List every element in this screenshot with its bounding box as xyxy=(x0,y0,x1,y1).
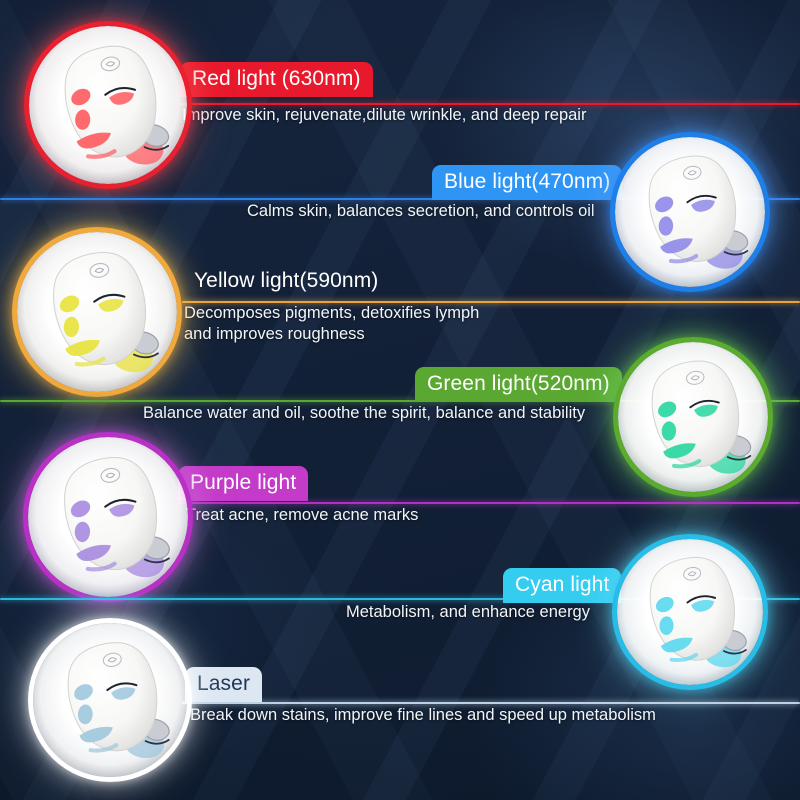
mask-ring-laser xyxy=(28,618,192,782)
mask-glow-red xyxy=(29,26,187,184)
description-blue: Calms skin, balances secretion, and cont… xyxy=(247,201,595,222)
led-mask-illustration xyxy=(610,132,770,292)
mode-row-cyan: Cyan lightMetabolism, and enhance energy xyxy=(0,0,800,800)
mode-row-purple: Purple lightTreat acne, remove acne mark… xyxy=(0,0,800,800)
badge-red[interactable]: Red light (630nm) xyxy=(180,62,373,97)
mode-row-green: Green light(520nm)Balance water and oil,… xyxy=(0,0,800,800)
background-streaks xyxy=(0,0,800,800)
background-vignette xyxy=(0,0,800,800)
mask-ring-red xyxy=(24,21,192,189)
mask-glow-green xyxy=(618,342,768,492)
background-streaks-secondary xyxy=(0,0,800,800)
divider-blue xyxy=(0,198,800,200)
mask-circle-red xyxy=(24,21,192,189)
divider-red xyxy=(180,103,800,105)
led-mask-illustration xyxy=(24,21,192,189)
badge-laser[interactable]: Laser xyxy=(185,667,262,702)
divider-cyan xyxy=(0,598,800,600)
mask-glow-laser xyxy=(33,623,187,777)
mode-row-red: Red light (630nm)Improve skin, rejuvenat… xyxy=(0,0,800,800)
description-cyan: Metabolism, and enhance energy xyxy=(346,602,590,623)
mask-ring-blue xyxy=(610,132,770,292)
led-mask-illustration xyxy=(612,534,768,690)
badge-blue[interactable]: Blue light(470nm) xyxy=(432,165,622,200)
badge-cyan[interactable]: Cyan light xyxy=(503,568,621,603)
badge-yellow[interactable]: Yellow light(590nm) xyxy=(182,264,390,299)
description-red: Improve skin, rejuvenate,dilute wrinkle,… xyxy=(182,105,586,126)
mask-circle-cyan xyxy=(612,534,768,690)
led-mask-illustration xyxy=(28,618,192,782)
mask-glow-blue xyxy=(615,137,765,287)
led-mask-illustration xyxy=(613,337,773,497)
mask-glow-purple xyxy=(28,437,188,597)
mask-ring-green xyxy=(613,337,773,497)
mode-row-blue: Blue light(470nm)Calms skin, balances se… xyxy=(0,0,800,800)
divider-yellow xyxy=(182,301,800,303)
description-yellow: Decomposes pigments, detoxifies lymph an… xyxy=(184,303,479,345)
led-mask-illustration xyxy=(12,227,182,397)
mask-circle-green xyxy=(613,337,773,497)
badge-green[interactable]: Green light(520nm) xyxy=(415,367,622,402)
description-laser: Break down stains, improve fine lines an… xyxy=(190,705,656,726)
description-green: Balance water and oil, soothe the spirit… xyxy=(143,403,585,424)
divider-purple xyxy=(178,502,800,504)
mask-glow-cyan xyxy=(617,539,763,685)
badge-purple[interactable]: Purple light xyxy=(178,466,308,501)
led-mask-illustration xyxy=(23,432,193,602)
divider-laser xyxy=(182,702,800,704)
mask-circle-laser xyxy=(28,618,192,782)
mask-ring-cyan xyxy=(612,534,768,690)
description-purple: Treat acne, remove acne marks xyxy=(186,505,418,526)
mask-circle-purple xyxy=(23,432,193,602)
mode-row-yellow: Yellow light(590nm)Decomposes pigments, … xyxy=(0,0,800,800)
mask-ring-yellow xyxy=(12,227,182,397)
divider-green xyxy=(0,400,800,402)
mask-glow-yellow xyxy=(17,232,177,392)
mask-ring-purple xyxy=(23,432,193,602)
mode-row-laser: LaserBreak down stains, improve fine lin… xyxy=(0,0,800,800)
mask-circle-blue xyxy=(610,132,770,292)
mask-circle-yellow xyxy=(12,227,182,397)
infographic-canvas: Red light (630nm)Improve skin, rejuvenat… xyxy=(0,0,800,800)
